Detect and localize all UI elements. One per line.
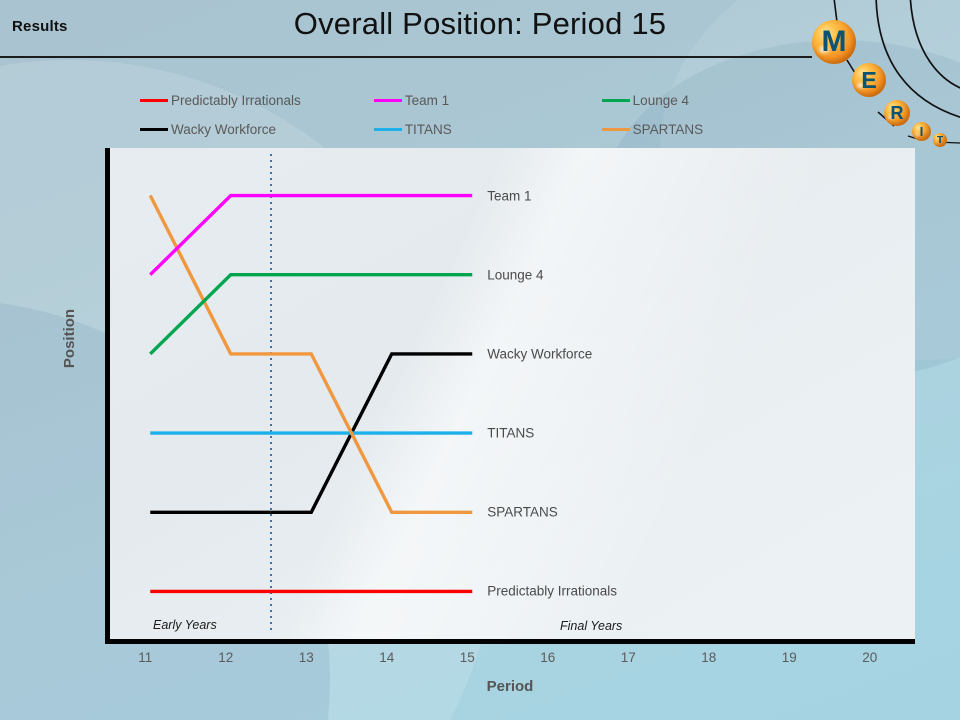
logo-bead-t: T bbox=[933, 133, 947, 147]
series-line-team-1[interactable] bbox=[150, 196, 472, 275]
chart-plot-area: Predictably IrrationalsWacky WorkforceTI… bbox=[105, 148, 915, 644]
merit-logo: M E R I T bbox=[790, 0, 960, 160]
legend-item-lounge-4[interactable]: Lounge 4 bbox=[602, 93, 780, 108]
x-tick-label: 13 bbox=[299, 650, 314, 665]
logo-bead-r: R bbox=[884, 100, 910, 126]
legend-row: Wacky Workforce TITANS SPARTANS bbox=[140, 115, 780, 144]
x-tick-label: 16 bbox=[540, 650, 555, 665]
logo-bead-e: E bbox=[852, 63, 886, 97]
legend-item-team-1[interactable]: Team 1 bbox=[374, 93, 602, 108]
early-years-annotation: Early Years bbox=[153, 618, 217, 632]
legend-label: Lounge 4 bbox=[633, 93, 689, 108]
legend-label: TITANS bbox=[405, 122, 452, 137]
legend-swatch-icon bbox=[140, 128, 168, 132]
legend-item-predictably-irrationals[interactable]: Predictably Irrationals bbox=[140, 93, 374, 108]
series-end-label-lounge-4: Lounge 4 bbox=[487, 267, 543, 282]
x-axis-title: Period bbox=[105, 678, 915, 695]
legend-swatch-icon bbox=[374, 99, 402, 103]
legend-swatch-icon bbox=[140, 99, 168, 103]
legend-swatch-icon bbox=[374, 128, 402, 132]
x-tick-label: 19 bbox=[782, 650, 797, 665]
y-axis-title: Position bbox=[61, 309, 78, 368]
series-end-label-predictably-irrationals: Predictably Irrationals bbox=[487, 584, 617, 599]
x-tick-label: 14 bbox=[379, 650, 394, 665]
logo-bead-i: I bbox=[912, 122, 931, 141]
legend-item-spartans[interactable]: SPARTANS bbox=[602, 122, 780, 137]
legend-swatch-icon bbox=[602, 99, 630, 103]
x-tick-label: 20 bbox=[862, 650, 877, 665]
legend-label: SPARTANS bbox=[633, 122, 704, 137]
legend-row: Predictably Irrationals Team 1 Lounge 4 bbox=[140, 86, 780, 115]
final-years-annotation: Final Years bbox=[560, 619, 622, 633]
series-end-label-titans: TITANS bbox=[487, 426, 534, 441]
series-end-label-team-1: Team 1 bbox=[487, 188, 531, 203]
chart-series-svg bbox=[110, 148, 915, 639]
x-tick-label: 15 bbox=[460, 650, 475, 665]
x-tick-label: 12 bbox=[218, 650, 233, 665]
series-end-label-spartans: SPARTANS bbox=[487, 505, 558, 520]
x-tick-label: 11 bbox=[138, 650, 152, 665]
series-line-lounge-4[interactable] bbox=[150, 275, 472, 354]
logo-bead-m: M bbox=[812, 20, 856, 64]
series-end-label-wacky-workforce: Wacky Workforce bbox=[487, 346, 592, 361]
legend-label: Team 1 bbox=[405, 93, 449, 108]
legend-label: Predictably Irrationals bbox=[171, 93, 301, 108]
legend-label: Wacky Workforce bbox=[171, 122, 276, 137]
chart-legend: Predictably Irrationals Team 1 Lounge 4 … bbox=[140, 86, 780, 144]
x-tick-label: 18 bbox=[701, 650, 716, 665]
x-axis-ticks: 11121314151617181920 bbox=[105, 650, 915, 672]
slide-canvas: Results Overall Position: Period 15 M E … bbox=[0, 0, 960, 720]
legend-item-wacky-workforce[interactable]: Wacky Workforce bbox=[140, 122, 374, 137]
x-tick-label: 17 bbox=[621, 650, 636, 665]
legend-item-titans[interactable]: TITANS bbox=[374, 122, 602, 137]
legend-swatch-icon bbox=[602, 128, 630, 132]
